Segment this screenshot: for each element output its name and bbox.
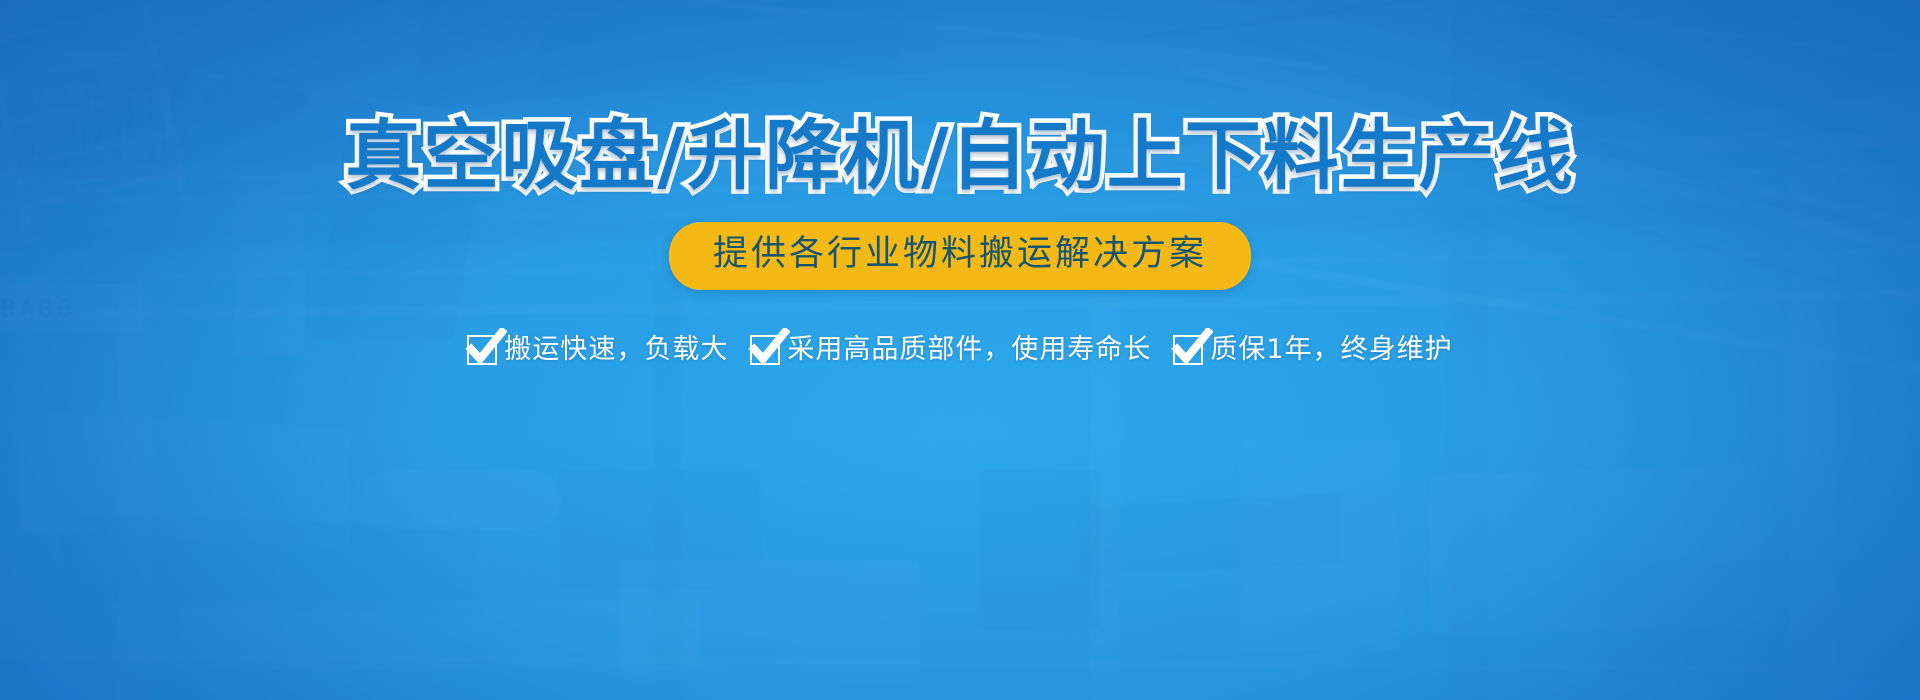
check-icon: [467, 335, 497, 365]
feature-item-2: 采用高品质部件，使用寿命长: [750, 335, 1151, 365]
check-icon: [1173, 335, 1203, 365]
subtitle-pill-text: 提供各行业物料搬运解决方案: [713, 232, 1207, 278]
feature-list: 搬运快速，负载大 采用高品质部件，使用寿命长 质保1年，终身维护: [467, 335, 1452, 365]
check-icon: [750, 335, 780, 365]
banner-content: 真空吸盘/升降机/自动上下料生产线 提供各行业物料搬运解决方案 搬运快速，负载大: [0, 0, 1920, 700]
feature-item-1: 搬运快速，负载大: [467, 335, 728, 365]
feature-item-3: 质保1年，终身维护: [1173, 335, 1452, 365]
hero-banner: BA06: [0, 0, 1920, 700]
feature-label-3: 质保1年，终身维护: [1210, 336, 1452, 363]
banner-headline: 真空吸盘/升降机/自动上下料生产线: [345, 118, 1575, 194]
feature-label-2: 采用高品质部件，使用寿命长: [787, 336, 1151, 363]
subtitle-pill: 提供各行业物料搬运解决方案: [669, 222, 1251, 290]
feature-label-1: 搬运快速，负载大: [504, 336, 728, 363]
